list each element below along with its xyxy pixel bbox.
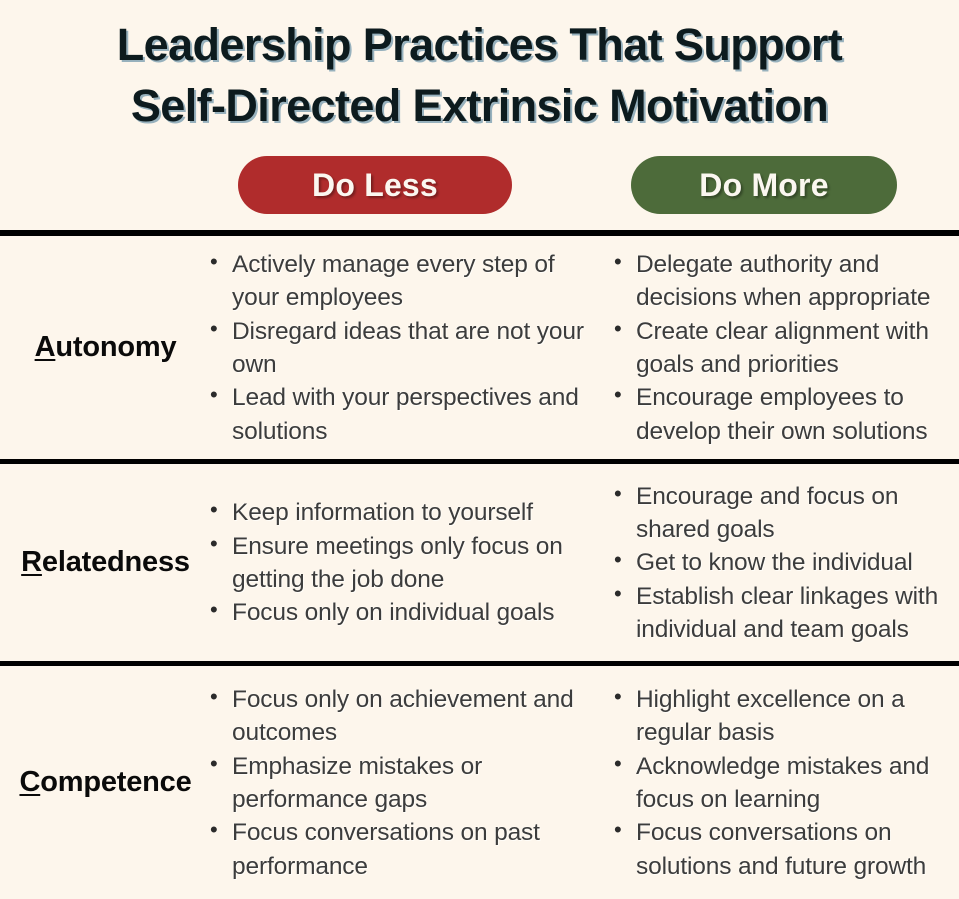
infographic-root: Leadership Practices That Support Self-D… xyxy=(0,0,959,894)
bullet-list: Focus only on achievement and outcomes E… xyxy=(210,683,592,883)
list-item: Ensure meetings only focus on getting th… xyxy=(210,530,592,597)
bullet-list: Keep information to yourself Ensure meet… xyxy=(210,496,592,629)
list-item: Create clear alignment with goals and pr… xyxy=(614,315,959,382)
bullet-list: Actively manage every step of your emplo… xyxy=(210,248,592,448)
do-more-label: Do More xyxy=(699,167,828,204)
list-item: Highlight excellence on a regular basis xyxy=(614,683,959,750)
category-label-relatedness: Relatedness xyxy=(0,546,205,579)
do-more-cell-autonomy: Delegate authority and decisions when ap… xyxy=(592,248,959,448)
list-item: Get to know the individual xyxy=(614,546,959,579)
do-less-label: Do Less xyxy=(312,167,438,204)
list-item: Focus conversations on past performance xyxy=(210,816,592,883)
list-item: Delegate authority and decisions when ap… xyxy=(614,248,959,315)
column-header-row: Do Less Do More xyxy=(0,156,959,230)
title-line-1: Leadership Practices That Support xyxy=(0,14,959,75)
list-item: Focus conversations on solutions and fut… xyxy=(614,816,959,883)
do-less-cell-competence: Focus only on achievement and outcomes E… xyxy=(205,683,592,883)
list-item: Focus only on achievement and outcomes xyxy=(210,683,592,750)
list-item: Encourage employees to develop their own… xyxy=(614,381,959,448)
title-line-2: Self-Directed Extrinsic Motivation xyxy=(0,75,959,136)
list-item: Lead with your perspectives and solution… xyxy=(210,381,592,448)
list-item: Emphasize mistakes or performance gaps xyxy=(210,750,592,817)
do-more-header-pill: Do More xyxy=(631,156,897,214)
category-rest: ompetence xyxy=(40,766,191,798)
list-item: Keep information to yourself xyxy=(210,496,592,529)
do-more-cell-relatedness: Encourage and focus on shared goals Get … xyxy=(592,480,959,647)
do-less-cell-relatedness: Keep information to yourself Ensure meet… xyxy=(205,496,592,629)
category-rest: utonomy xyxy=(55,331,176,363)
page-title: Leadership Practices That Support Self-D… xyxy=(0,0,959,136)
do-less-header-pill: Do Less xyxy=(238,156,512,214)
do-less-cell-autonomy: Actively manage every step of your emplo… xyxy=(205,248,592,448)
table-row: Autonomy Actively manage every step of y… xyxy=(0,236,959,459)
category-initial: R xyxy=(21,546,42,578)
list-item: Encourage and focus on shared goals xyxy=(614,480,959,547)
bullet-list: Highlight excellence on a regular basis … xyxy=(614,683,959,883)
table-row: Relatedness Keep information to yourself… xyxy=(0,464,959,661)
bullet-list: Encourage and focus on shared goals Get … xyxy=(614,480,959,647)
category-initial: A xyxy=(35,331,56,363)
category-initial: C xyxy=(19,766,40,798)
list-item: Disregard ideas that are not your own xyxy=(210,315,592,382)
category-rest: elatedness xyxy=(42,546,190,578)
table-row: Competence Focus only on achievement and… xyxy=(0,666,959,899)
list-item: Establish clear linkages with individual… xyxy=(614,580,959,647)
category-label-competence: Competence xyxy=(0,766,205,799)
do-more-cell-competence: Highlight excellence on a regular basis … xyxy=(592,683,959,883)
bullet-list: Delegate authority and decisions when ap… xyxy=(614,248,959,448)
list-item: Acknowledge mistakes and focus on learni… xyxy=(614,750,959,817)
list-item: Actively manage every step of your emplo… xyxy=(210,248,592,315)
list-item: Focus only on individual goals xyxy=(210,596,592,629)
category-label-autonomy: Autonomy xyxy=(0,331,205,364)
